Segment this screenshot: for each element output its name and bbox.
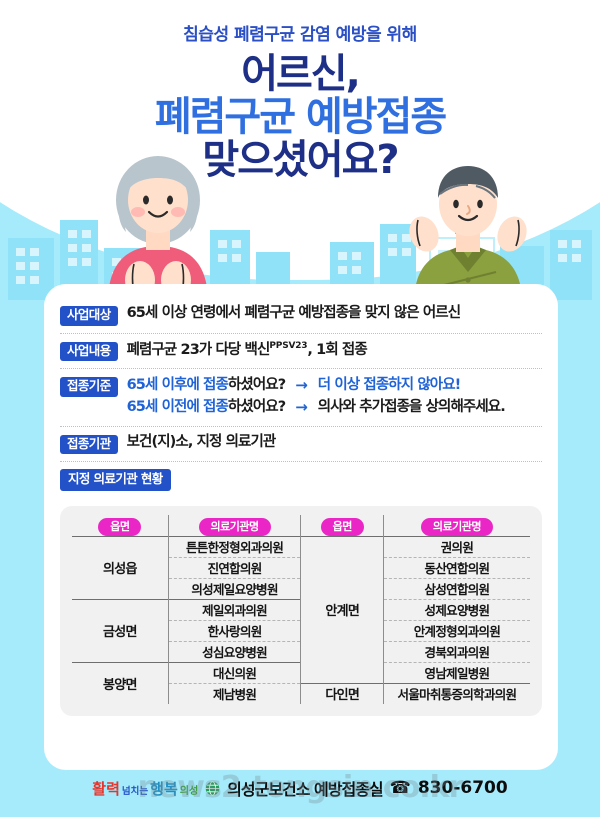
criteria-question-1: 65세 이후에 접종하셨어요? [127,375,286,396]
ppsv23-superscript: PPSV23 [269,341,307,351]
region-cell: 안계면 [301,536,383,683]
region-cell: 다인면 [301,683,383,704]
criteria-question-1-rest: 하셨어요? [228,377,285,393]
hero-kicker: 침습성 폐렴구균 감염 예방을 위해 [0,24,600,46]
institution-cell: 안계정형외과의원 [383,620,530,641]
headline-line-3: 맞으셨어요? [0,139,600,182]
criteria-question-2-highlight: 65세 이전에 접종 [127,399,228,415]
logo-text-2: 넘치는 [122,783,148,797]
badge-target: 사업대상 [60,306,118,326]
institutions-table: 읍면 의료기관명 읍면 의료기관명 의성읍 튼튼한정형외과의원 안계면 권의원 … [72,515,530,705]
health-center-label: 의성군보건소 예방접종실 [227,776,383,800]
institution-cell: 영남제일병원 [383,662,530,683]
info-row-content: 사업내용 폐렴구균 23가 다당 백신PPSV23, 1회 접종 [60,333,542,369]
hero-text-block: 침습성 폐렴구균 감염 예방을 위해 어르신, 폐렴구균 예방접종 맞으셨어요? [0,24,600,181]
badge-designated-status: 지정 의료기관 현황 [60,469,171,491]
content-text-after: , 1회 접종 [307,341,366,357]
phone-number: 830-6700 [418,778,508,798]
hero-section: 침습성 폐렴구균 감염 예방을 위해 어르신, 폐렴구균 예방접종 맞으셨어요? [0,0,600,300]
globe-icon [205,781,220,796]
badge-facility: 접종기관 [60,435,118,455]
info-row-facility: 접종기관 보건(지)소, 지정 의료기관 [60,426,542,462]
pill-institution-left: 의료기관명 [199,518,271,536]
criteria-line-1: 65세 이후에 접종하셨어요? → 더 이상 접종하지 않아요! [127,375,505,397]
criteria-answer-1: 더 이상 접종하지 않아요! [318,375,461,396]
headline-line-1: 어르신, [0,53,600,96]
pill-region-right: 읍면 [321,518,364,536]
hero-headline: 어르신, 폐렴구균 예방접종 맞으셨어요? [0,53,600,181]
institution-cell: 한사랑의원 [168,620,301,641]
info-card: 사업대상 65세 이상 연령에서 폐렴구균 예방접종을 맞지 않은 어르신 사업… [44,284,558,770]
institution-cell: 진연합의원 [168,557,301,578]
pill-region-left: 읍면 [98,518,141,536]
phone-icon: ☎ [390,778,411,798]
badge-criteria: 접종기준 [60,377,118,397]
table-row: 의성읍 튼튼한정형외과의원 안계면 권의원 [72,536,530,557]
criteria-question-1-highlight: 65세 이후에 접종 [127,377,228,393]
criteria-question-2-rest: 하셨어요? [228,399,285,415]
institution-cell: 성제요양병원 [383,599,530,620]
section-header-row: 지정 의료기관 현황 [60,461,542,498]
facility-text: 보건(지)소, 지정 의료기관 [127,433,276,453]
institution-cell: 튼튼한정형외과의원 [168,536,301,557]
criteria-question-2: 65세 이전에 접종하셨어요? [127,397,286,418]
institutions-table-panel: 읍면 의료기관명 읍면 의료기관명 의성읍 튼튼한정형외과의원 안계면 권의원 … [60,506,542,717]
region-cell: 봉양면 [72,662,168,704]
logo-text-4: 의성 [180,782,198,797]
logo-text-3: 행복 [150,778,178,799]
institution-cell: 대신의원 [168,662,301,683]
headline-line-2: 폐렴구균 예방접종 [0,96,600,139]
footer-bar: 활력 넘치는 행복 의성 의성군보건소 예방접종실 ☎ 830-6700 [0,776,600,800]
criteria-block: 65세 이후에 접종하셨어요? → 더 이상 접종하지 않아요! 65세 이전에… [127,375,505,419]
region-cell: 금성면 [72,599,168,662]
institution-cell: 서울마취통증의학과의원 [383,683,530,704]
institution-cell: 의성제일요양병원 [168,578,301,599]
badge-content: 사업내용 [60,342,118,362]
institution-cell: 경북외과의원 [383,641,530,662]
content-text-before: 폐렴구균 23가 다당 백신 [127,341,270,357]
target-text: 65세 이상 연령에서 폐렴구균 예방접종을 맞지 않은 어르신 [127,304,461,324]
header-region-right: 읍면 [301,515,383,537]
table-header-row: 읍면 의료기관명 읍면 의료기관명 [72,515,530,537]
header-region-left: 읍면 [72,515,168,537]
arrow-right-icon-2: → [291,397,312,419]
institution-cell: 제남병원 [168,683,301,704]
info-row-criteria: 접종기준 65세 이후에 접종하셨어요? → 더 이상 접종하지 않아요! 65… [60,368,542,426]
uiseong-brand-logo: 활력 넘치는 행복 의성 [92,778,198,799]
criteria-answer-2: 의사와 추가접종을 상의해주세요. [318,397,505,418]
logo-text-1: 활력 [92,778,120,799]
criteria-line-2: 65세 이전에 접종하셨어요? → 의사와 추가접종을 상의해주세요. [127,397,505,419]
institution-cell: 제일외과의원 [168,599,301,620]
institution-cell: 권의원 [383,536,530,557]
institution-cell: 성심요양병원 [168,641,301,662]
institution-cell: 삼성연합의원 [383,578,530,599]
institution-cell: 동산연합의원 [383,557,530,578]
region-cell: 의성읍 [72,536,168,599]
arrow-right-icon-1: → [291,375,312,397]
content-text: 폐렴구균 23가 다당 백신PPSV23, 1회 접종 [127,340,367,360]
poster-root: 침습성 폐렴구균 감염 예방을 위해 어르신, 폐렴구균 예방접종 맞으셨어요?… [0,0,600,817]
header-institution-left: 의료기관명 [168,515,301,537]
pill-institution-right: 의료기관명 [421,518,493,536]
header-institution-right: 의료기관명 [383,515,530,537]
info-row-target: 사업대상 65세 이상 연령에서 폐렴구균 예방접종을 맞지 않은 어르신 [60,298,542,333]
